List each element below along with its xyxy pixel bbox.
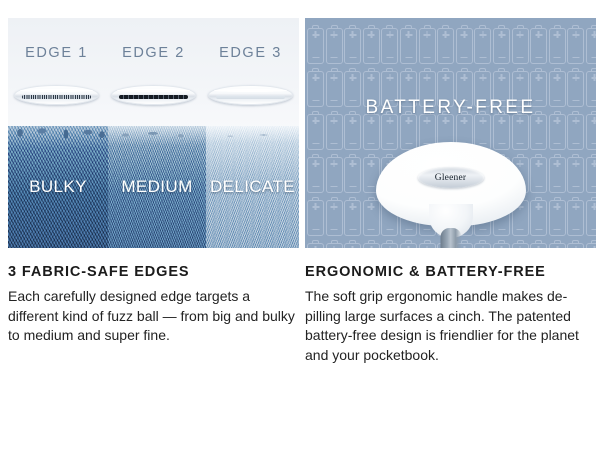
battery-icon [400,28,417,64]
battery-icon [549,243,566,248]
feature-column-fabric-safe-edges: EDGE 1 EDGE 2 EDGE 3 [8,0,300,450]
right-text-block: ERGONOMIC & BATTERY-FREE The soft grip e… [305,264,587,365]
battery-icon [567,243,584,248]
battery-icon [586,243,596,248]
battery-free-image-panel: BATTERY-FREE Gleener [305,18,596,248]
battery-icon [474,28,491,64]
battery-icon [586,157,596,193]
battery-icon [344,28,361,64]
battery-icon [307,28,324,64]
right-headline: ERGONOMIC & BATTERY-FREE [305,264,587,280]
battery-icon [567,28,584,64]
fabric-label-delicate: DELICATE [206,177,299,197]
battery-icon [456,28,473,64]
battery-icon [530,200,547,236]
battery-icon [549,114,566,150]
gleener-device-illustration: Gleener [376,142,526,248]
battery-icon [344,157,361,193]
battery-icon [326,28,343,64]
device-handle [440,228,461,248]
battery-icon [307,157,324,193]
battery-icon [567,114,584,150]
battery-icon [344,114,361,150]
device-brand-badge: Gleener [418,167,484,188]
left-text-block: 3 FABRIC-SAFE EDGES Each carefully desig… [8,264,296,346]
battery-icon [326,114,343,150]
right-body-copy: The soft grip ergonomic handle makes de-… [305,287,587,365]
edge-blade-2-icon [111,85,196,105]
battery-icon [530,28,547,64]
battery-free-overlay-text: BATTERY-FREE [305,97,596,119]
battery-icon [307,243,324,248]
battery-icon [567,200,584,236]
device-brand-label: Gleener [435,173,466,183]
battery-icon [344,243,361,248]
fabric-label-bulky: BULKY [8,177,108,197]
battery-icon [326,157,343,193]
battery-icon [530,114,547,150]
battery-icon [363,28,380,64]
edge-label-3: EDGE 3 [219,45,282,61]
feature-comparison-page: EDGE 1 EDGE 2 EDGE 3 [0,0,600,450]
left-body-copy: Each carefully designed edge targets a d… [8,287,296,346]
battery-icon [586,28,596,64]
battery-icon [530,243,547,248]
battery-icon [419,28,436,64]
battery-icon [307,200,324,236]
battery-icon [549,28,566,64]
fabric-label-row: BULKY MEDIUM DELICATE [8,126,299,248]
battery-icon [530,157,547,193]
feature-column-ergonomic-battery-free: BATTERY-FREE Gleener ERGONOMIC & BATTERY… [305,0,597,450]
battery-icon [307,114,324,150]
edges-image-panel: EDGE 1 EDGE 2 EDGE 3 [8,18,299,248]
battery-icon [549,157,566,193]
battery-icon [326,243,343,248]
battery-icon [549,200,566,236]
battery-icon [381,28,398,64]
battery-icon [512,28,529,64]
battery-icon [567,157,584,193]
edge-label-2: EDGE 2 [122,45,185,61]
battery-icon [344,200,361,236]
edge-label-row: EDGE 1 EDGE 2 EDGE 3 [8,40,299,66]
edge-blade-1-icon [14,85,99,105]
battery-icon [326,200,343,236]
fabric-label-medium: MEDIUM [108,177,206,197]
edge-blade-3-icon [208,85,293,105]
battery-icon [586,200,596,236]
battery-icon [437,28,454,64]
battery-icon [586,114,596,150]
battery-icon [493,28,510,64]
edge-blade-row [8,82,299,108]
edge-label-1: EDGE 1 [25,45,88,61]
left-headline: 3 FABRIC-SAFE EDGES [8,264,296,280]
